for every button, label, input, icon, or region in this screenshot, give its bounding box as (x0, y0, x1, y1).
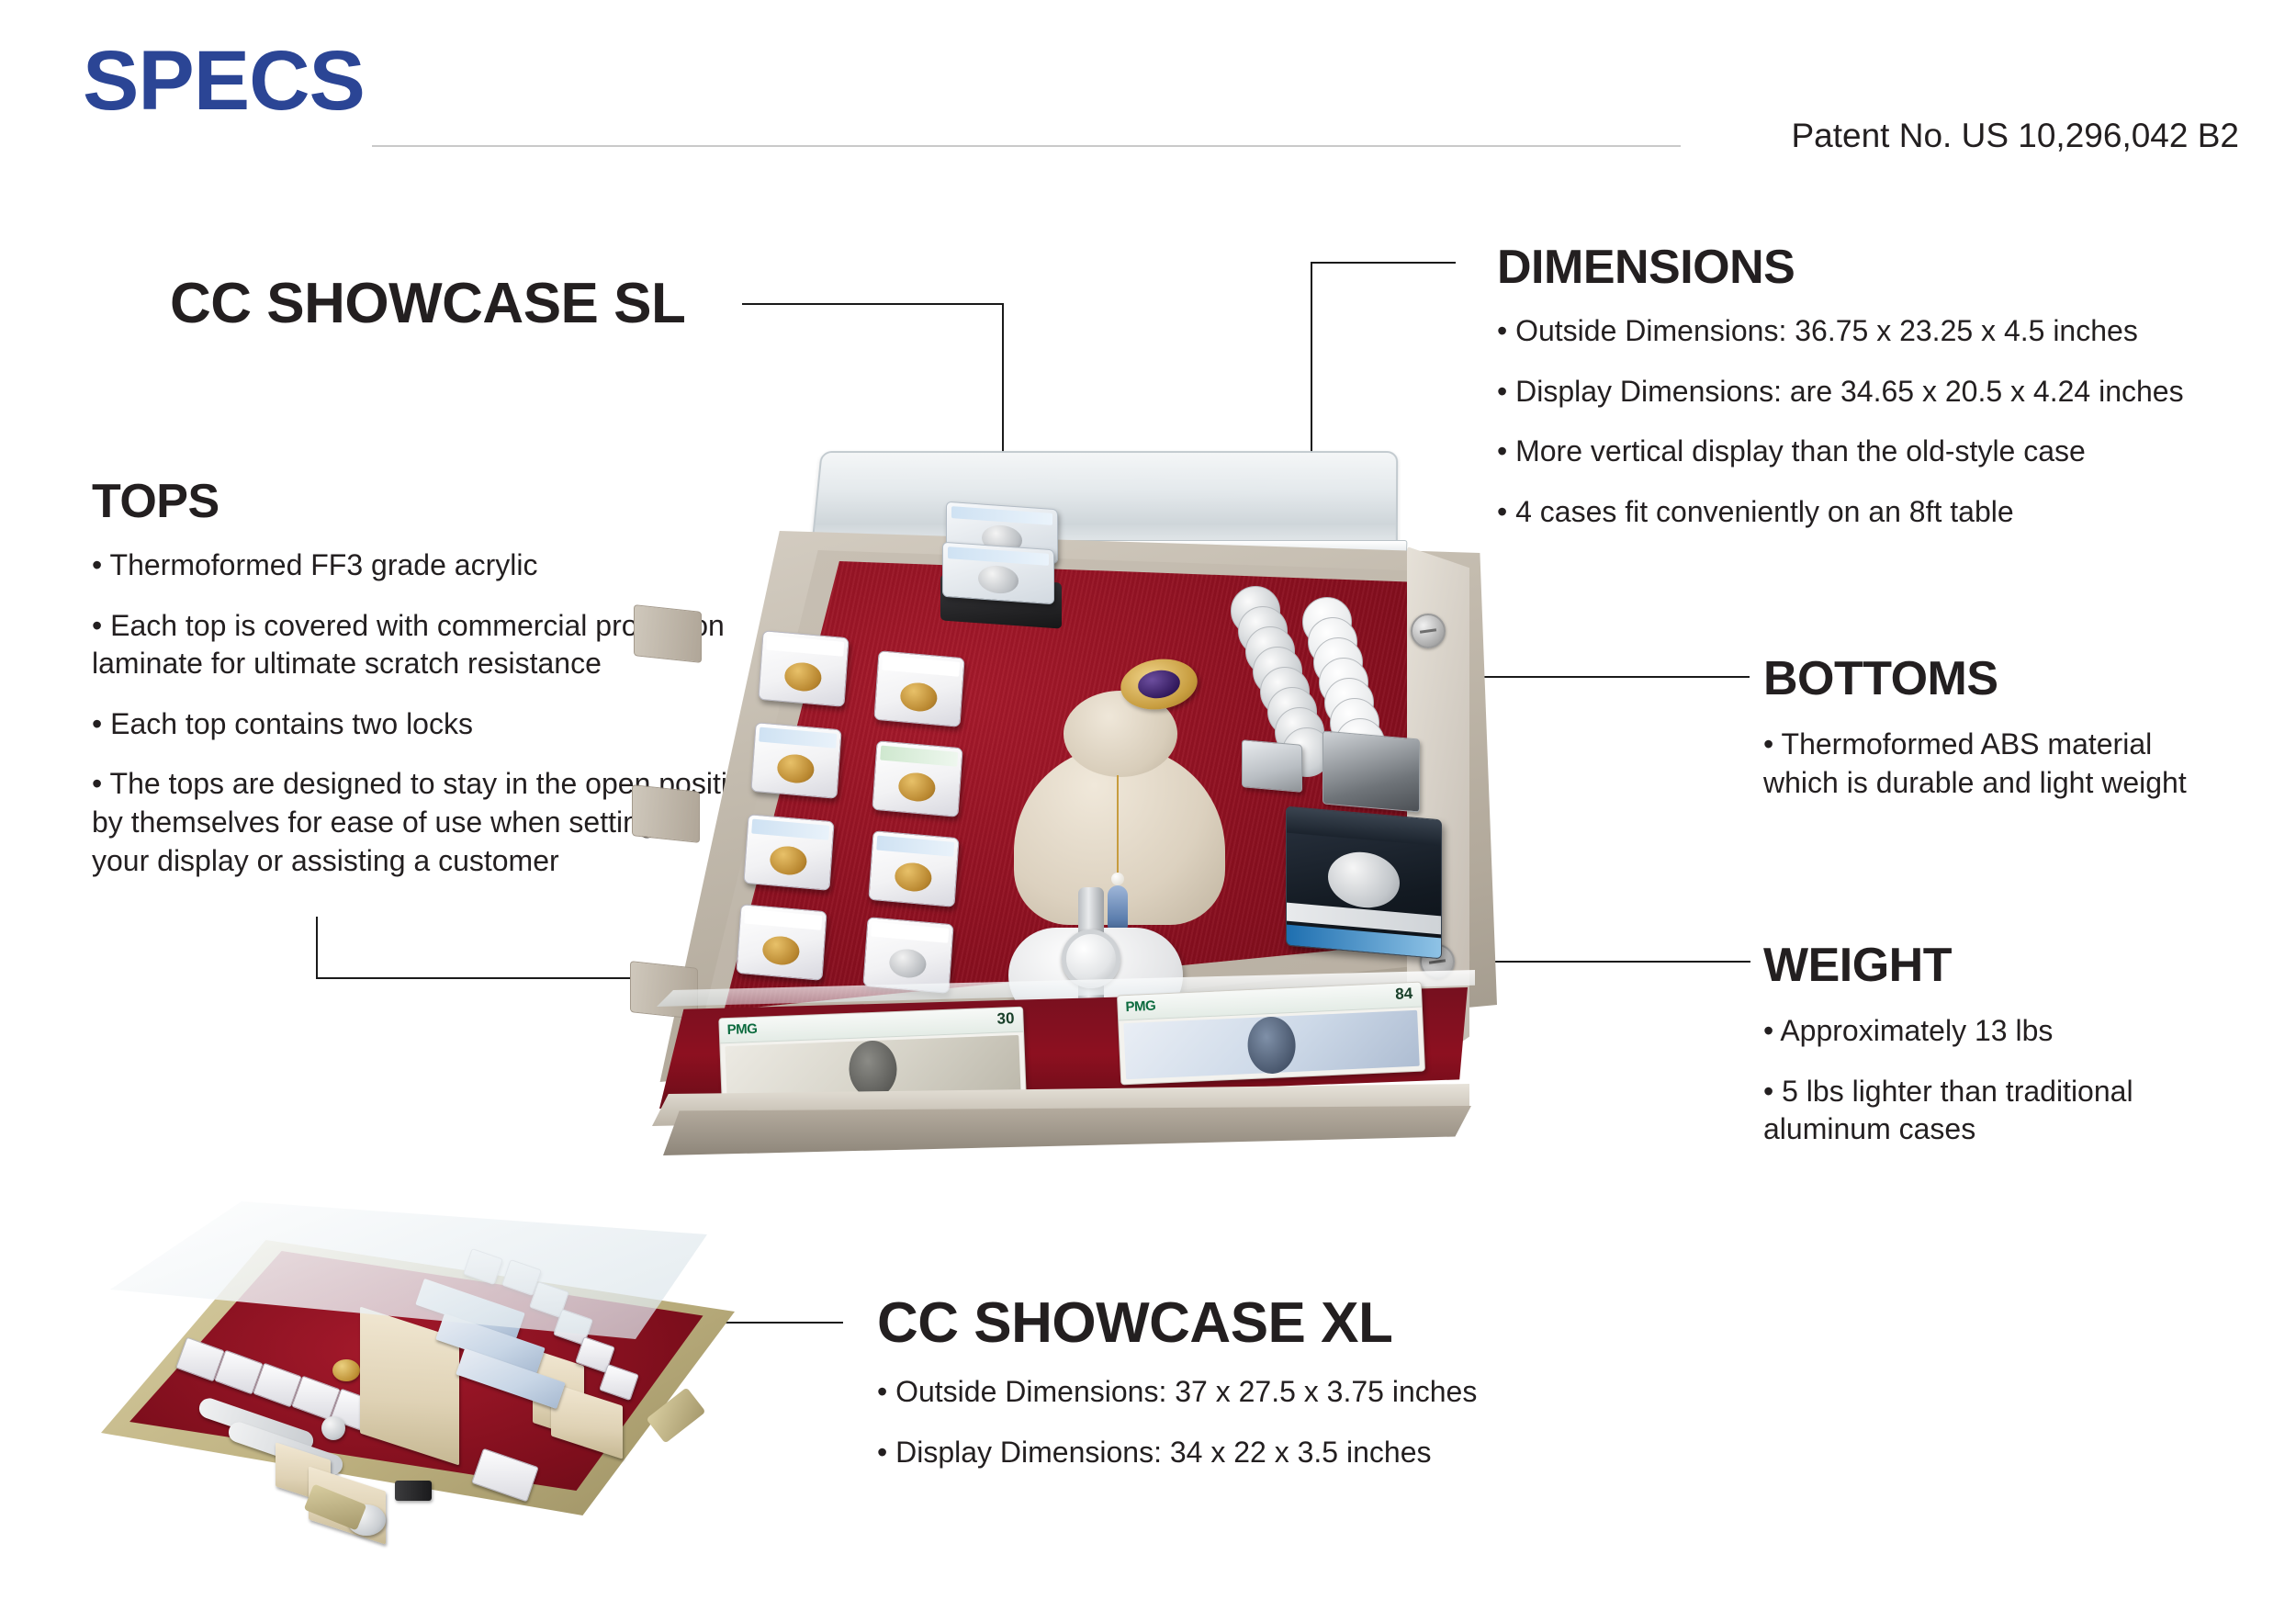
callout-title-weight: WEIGHT (1763, 941, 1952, 989)
graded-coin-slab (750, 722, 841, 799)
page-title: SPECS (83, 39, 365, 123)
graded-coin-slab (873, 650, 964, 727)
pmg-logo: PMG (726, 1021, 757, 1038)
xl-silver-coin (321, 1416, 345, 1440)
callout-title-bottoms: BOTTOMS (1763, 655, 1998, 703)
xl-gold-coin (332, 1359, 360, 1381)
callout-title-tops: TOPS (92, 478, 219, 525)
callout-title-cc-showcase-xl: CC SHOWCASE XL (877, 1295, 1392, 1352)
list-item: More vertical display than the old-style… (1497, 433, 2250, 471)
banknote-grade: 30 (996, 1009, 1015, 1029)
callout-title-dimensions: DIMENSIONS (1497, 243, 1795, 291)
silver-bar-small (1242, 739, 1302, 793)
patent-number: Patent No. US 10,296,042 B2 (1791, 117, 2239, 155)
leader-line-sl-horizontal (742, 303, 1004, 305)
graded-coin-slab (736, 904, 827, 981)
callout-list-bottoms: Thermoformed ABS material which is durab… (1763, 726, 2278, 824)
graded-slab-stacked (942, 542, 1054, 605)
product-photo-cc-showcase-sl: PMG 30 PMG 84 (643, 450, 1497, 1185)
hinge-middle (632, 784, 700, 843)
graded-banknote: PMG 84 (1117, 982, 1425, 1086)
list-item: Approximately 13 lbs (1763, 1012, 2259, 1051)
graded-coin-slab (862, 917, 953, 994)
product-photo-cc-showcase-xl (101, 1185, 762, 1552)
list-item: Display Dimensions: are 34.65 x 20.5 x 4… (1497, 373, 2250, 411)
graded-coin-slab (743, 814, 834, 891)
xl-ring-box (395, 1481, 432, 1501)
leader-line-dimensions-horizontal (1311, 262, 1456, 264)
hinge-top (634, 604, 702, 663)
list-item: 5 lbs lighter than traditional aluminum … (1763, 1073, 2259, 1149)
pmg-logo: PMG (1125, 998, 1155, 1015)
callout-list-dimensions: Outside Dimensions: 36.75 x 23.25 x 4.5 … (1497, 312, 2250, 553)
list-item: 4 cases fit conveniently on an 8ft table (1497, 493, 2250, 532)
callout-list-cc-showcase-xl: Outside Dimensions: 37 x 27.5 x 3.75 inc… (877, 1373, 1575, 1493)
carson-city-coin-holder (1286, 806, 1442, 960)
lock-icon-upper (1411, 614, 1446, 648)
callout-title-cc-showcase-sl: CC SHOWCASE SL (170, 276, 685, 332)
graded-coin-slab (868, 830, 959, 907)
list-item: Thermoformed ABS material which is durab… (1763, 726, 2278, 802)
list-item: Display Dimensions: 34 x 22 x 3.5 inches (877, 1434, 1575, 1472)
leader-line-tops-vertical (316, 917, 318, 979)
list-item: Outside Dimensions: 36.75 x 23.25 x 4.5 … (1497, 312, 2250, 351)
header-divider-rule (372, 145, 1681, 147)
graded-coin-slab (872, 740, 962, 817)
graded-coin-slab (758, 630, 849, 707)
silver-bar-large (1322, 730, 1420, 812)
list-item: Outside Dimensions: 37 x 27.5 x 3.75 inc… (877, 1373, 1575, 1412)
case-base-shadow (663, 1106, 1471, 1155)
callout-list-weight: Approximately 13 lbs 5 lbs lighter than … (1763, 1012, 2259, 1171)
banknote-grade: 84 (1395, 985, 1413, 1004)
